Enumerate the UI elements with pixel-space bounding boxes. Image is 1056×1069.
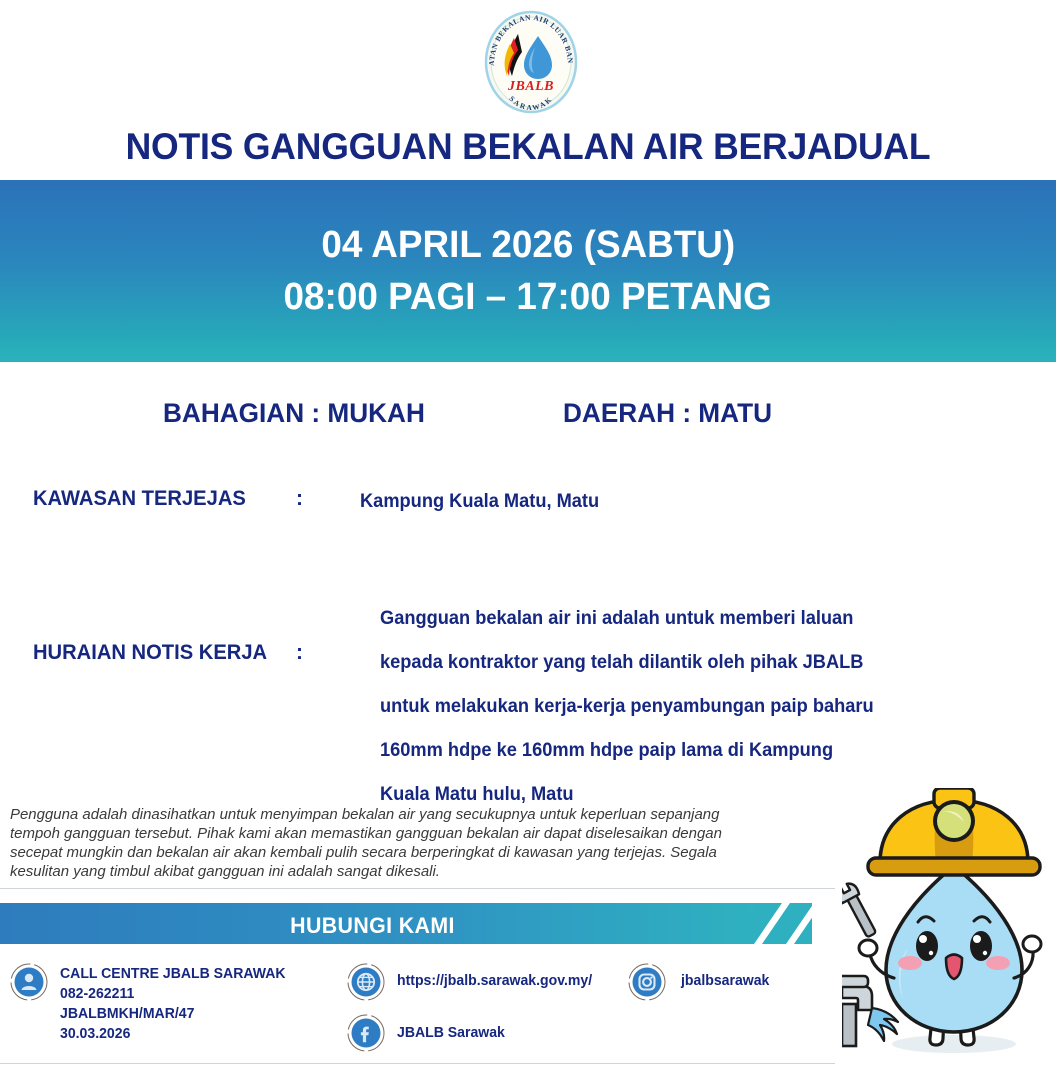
jbalb-logo: JABATAN BEKALAN AIR LUAR BANDAR SARAWAK … [482,10,580,114]
facebook-icon[interactable] [347,1014,385,1052]
affected-area-label: KAWASAN TERJEJAS [33,487,246,511]
region-row: BAHAGIAN : MUKAH DAERAH : MATU [0,398,1056,438]
call-centre-block: CALL CENTRE JBALB SARAWAK 082-262211 JBA… [60,964,286,1044]
call-centre-phone: 082-262211 [60,984,286,1004]
contact-banner: HUBUNGI KAMI [0,903,812,944]
divider-top [0,888,835,889]
district-label: DAERAH : MATU [563,398,772,429]
call-centre-date: 30.03.2026 [60,1024,286,1044]
notice-page: JABATAN BEKALAN AIR LUAR BANDAR SARAWAK … [0,0,1056,1069]
divider-bottom [0,1063,835,1064]
website-label[interactable]: https://jbalb.sarawak.gov.my/ [397,971,592,991]
schedule-banner: 04 APRIL 2026 (SABTU) 08:00 PAGI – 17:00… [0,180,1056,362]
instagram-label[interactable]: jbalbsarawak [681,971,769,991]
water-droplet-mascot [842,788,1056,1066]
outage-time: 08:00 PAGI – 17:00 PETANG [284,271,772,323]
work-description-line: 160mm hdpe ke 160mm hdpe paip lama di Ka… [380,729,975,773]
work-description-label: HURAIAN NOTIS KERJA [33,641,267,665]
globe-icon[interactable] [347,963,385,1001]
outage-date: 04 APRIL 2026 (SABTU) [321,219,735,271]
instagram-icon[interactable] [628,963,666,1001]
contact-banner-label: HUBUNGI KAMI [11,913,734,939]
work-description-line: untuk melakukan kerja-kerja penyambungan… [380,685,975,729]
disclaimer-text: Pengguna adalah dinasihatkan untuk menyi… [10,805,759,881]
affected-area-value: Kampung Kuala Matu, Matu [360,491,599,513]
work-description-line: kepada kontraktor yang telah dilantik ol… [380,641,975,685]
call-centre-title: CALL CENTRE JBALB SARAWAK [60,964,286,984]
person-icon [10,963,48,1001]
call-centre-reference: JBALBMKH/MAR/47 [60,1004,286,1024]
work-description-line: Gangguan bekalan air ini adalah untuk me… [380,597,975,641]
page-title: NOTIS GANGGUAN BEKALAN AIR BERJADUAL [21,126,1035,168]
work-description-colon: : [296,641,303,665]
work-description-value: Gangguan bekalan air ini adalah untuk me… [380,597,1000,817]
facebook-label[interactable]: JBALB Sarawak [397,1023,505,1043]
division-label: BAHAGIAN : MUKAH [163,398,425,429]
svg-text:JBALB: JBALB [507,79,554,94]
affected-area-colon: : [296,487,303,511]
